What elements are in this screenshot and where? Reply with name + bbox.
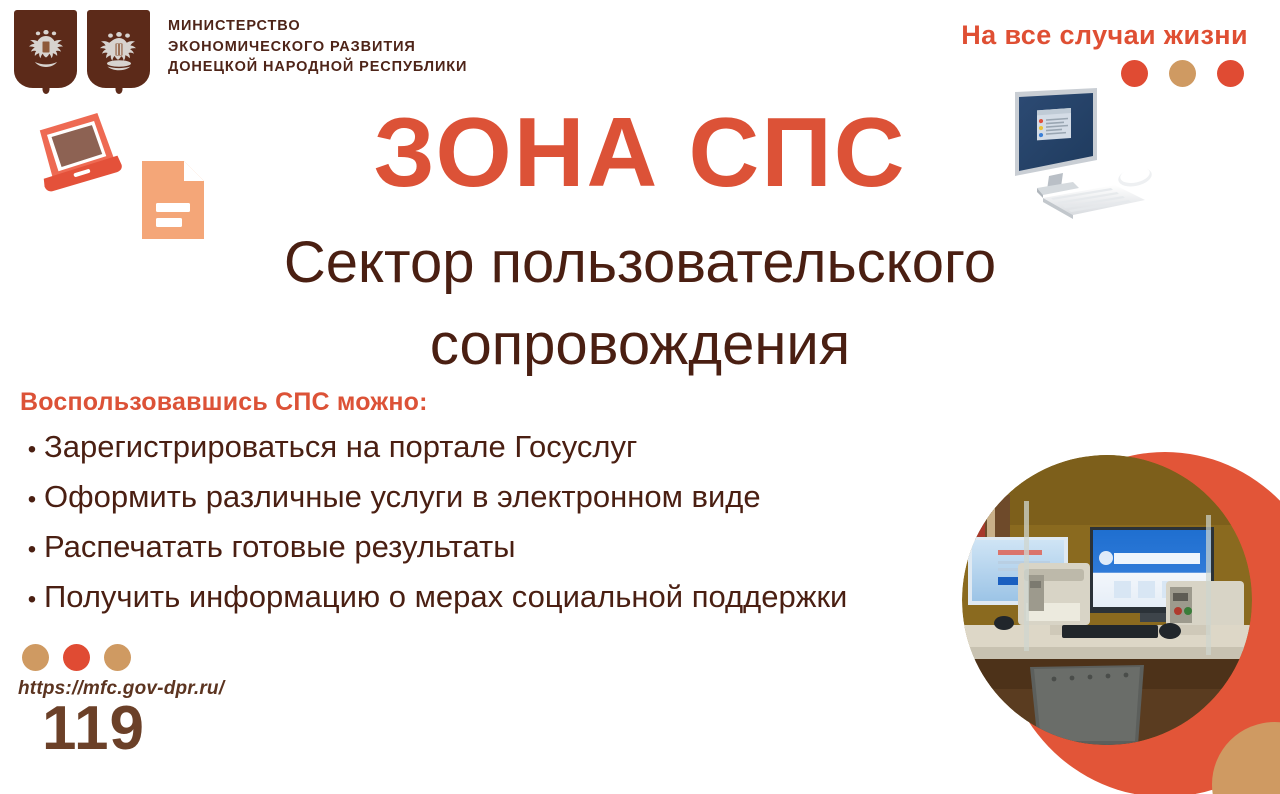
slogan-text: На все случаи жизни	[961, 20, 1248, 51]
hotline-number: 119	[42, 696, 224, 761]
list-item: • Зарегистрироваться на портале Госуслуг	[20, 425, 847, 470]
list-item: • Распечатать готовые результаты	[20, 525, 847, 570]
slogan-dot-1	[1121, 60, 1148, 87]
ministry-line-2: ЭКОНОМИЧЕСКОГО РАЗВИТИЯ	[168, 37, 467, 58]
ministry-name: МИНИСТЕРСТВО ЭКОНОМИЧЕСКОГО РАЗВИТИЯ ДОН…	[168, 10, 467, 78]
footer-dot-3	[104, 644, 131, 671]
slogan-dots	[961, 60, 1244, 87]
list-item: • Оформить различные услуги в электронно…	[20, 475, 847, 520]
poster-root: МИНИСТЕРСТВО ЭКОНОМИЧЕСКОГО РАЗВИТИЯ ДОН…	[0, 0, 1280, 794]
slogan-dot-3	[1217, 60, 1244, 87]
footer-dot-2	[63, 644, 90, 671]
footer-dot-1	[22, 644, 49, 671]
slogan-dot-2	[1169, 60, 1196, 87]
list-item-label: Зарегистрироваться на портале Госуслуг	[44, 425, 637, 470]
ministry-line-1: МИНИСТЕРСТВО	[168, 16, 467, 37]
list-heading: Воспользовавшись СПС можно:	[20, 388, 428, 417]
russian-federation-coat-of-arms-icon	[14, 10, 77, 88]
list-item-label: Оформить различные услуги в электронном …	[44, 475, 761, 520]
ministry-branding: МИНИСТЕРСТВО ЭКОНОМИЧЕСКОГО РАЗВИТИЯ ДОН…	[14, 10, 467, 88]
footer-block: https://mfc.gov-dpr.ru/ 119	[18, 644, 224, 761]
bullet-icon: •	[20, 433, 44, 468]
page-title: ЗОНА СПС	[0, 103, 1280, 201]
list-item-label: Распечатать готовые результаты	[44, 525, 516, 570]
bullet-icon: •	[20, 533, 44, 568]
bullet-icon: •	[20, 583, 44, 618]
benefits-list: • Зарегистрироваться на портале Госуслуг…	[20, 425, 847, 625]
list-item-label: Получить информацию о мерах социальной п…	[44, 575, 847, 620]
ministry-line-3: ДОНЕЦКОЙ НАРОДНОЙ РЕСПУБЛИКИ	[168, 57, 467, 78]
donetsk-peoples-republic-coat-of-arms-icon	[87, 10, 150, 88]
page-subtitle: Сектор пользовательского сопровождения	[0, 222, 1280, 387]
list-item: • Получить информацию о мерах социальной…	[20, 575, 847, 620]
mfc-workstation-photo	[962, 455, 1252, 745]
footer-dots	[22, 644, 224, 671]
bullet-icon: •	[20, 483, 44, 518]
slogan-block: На все случаи жизни	[961, 20, 1248, 87]
